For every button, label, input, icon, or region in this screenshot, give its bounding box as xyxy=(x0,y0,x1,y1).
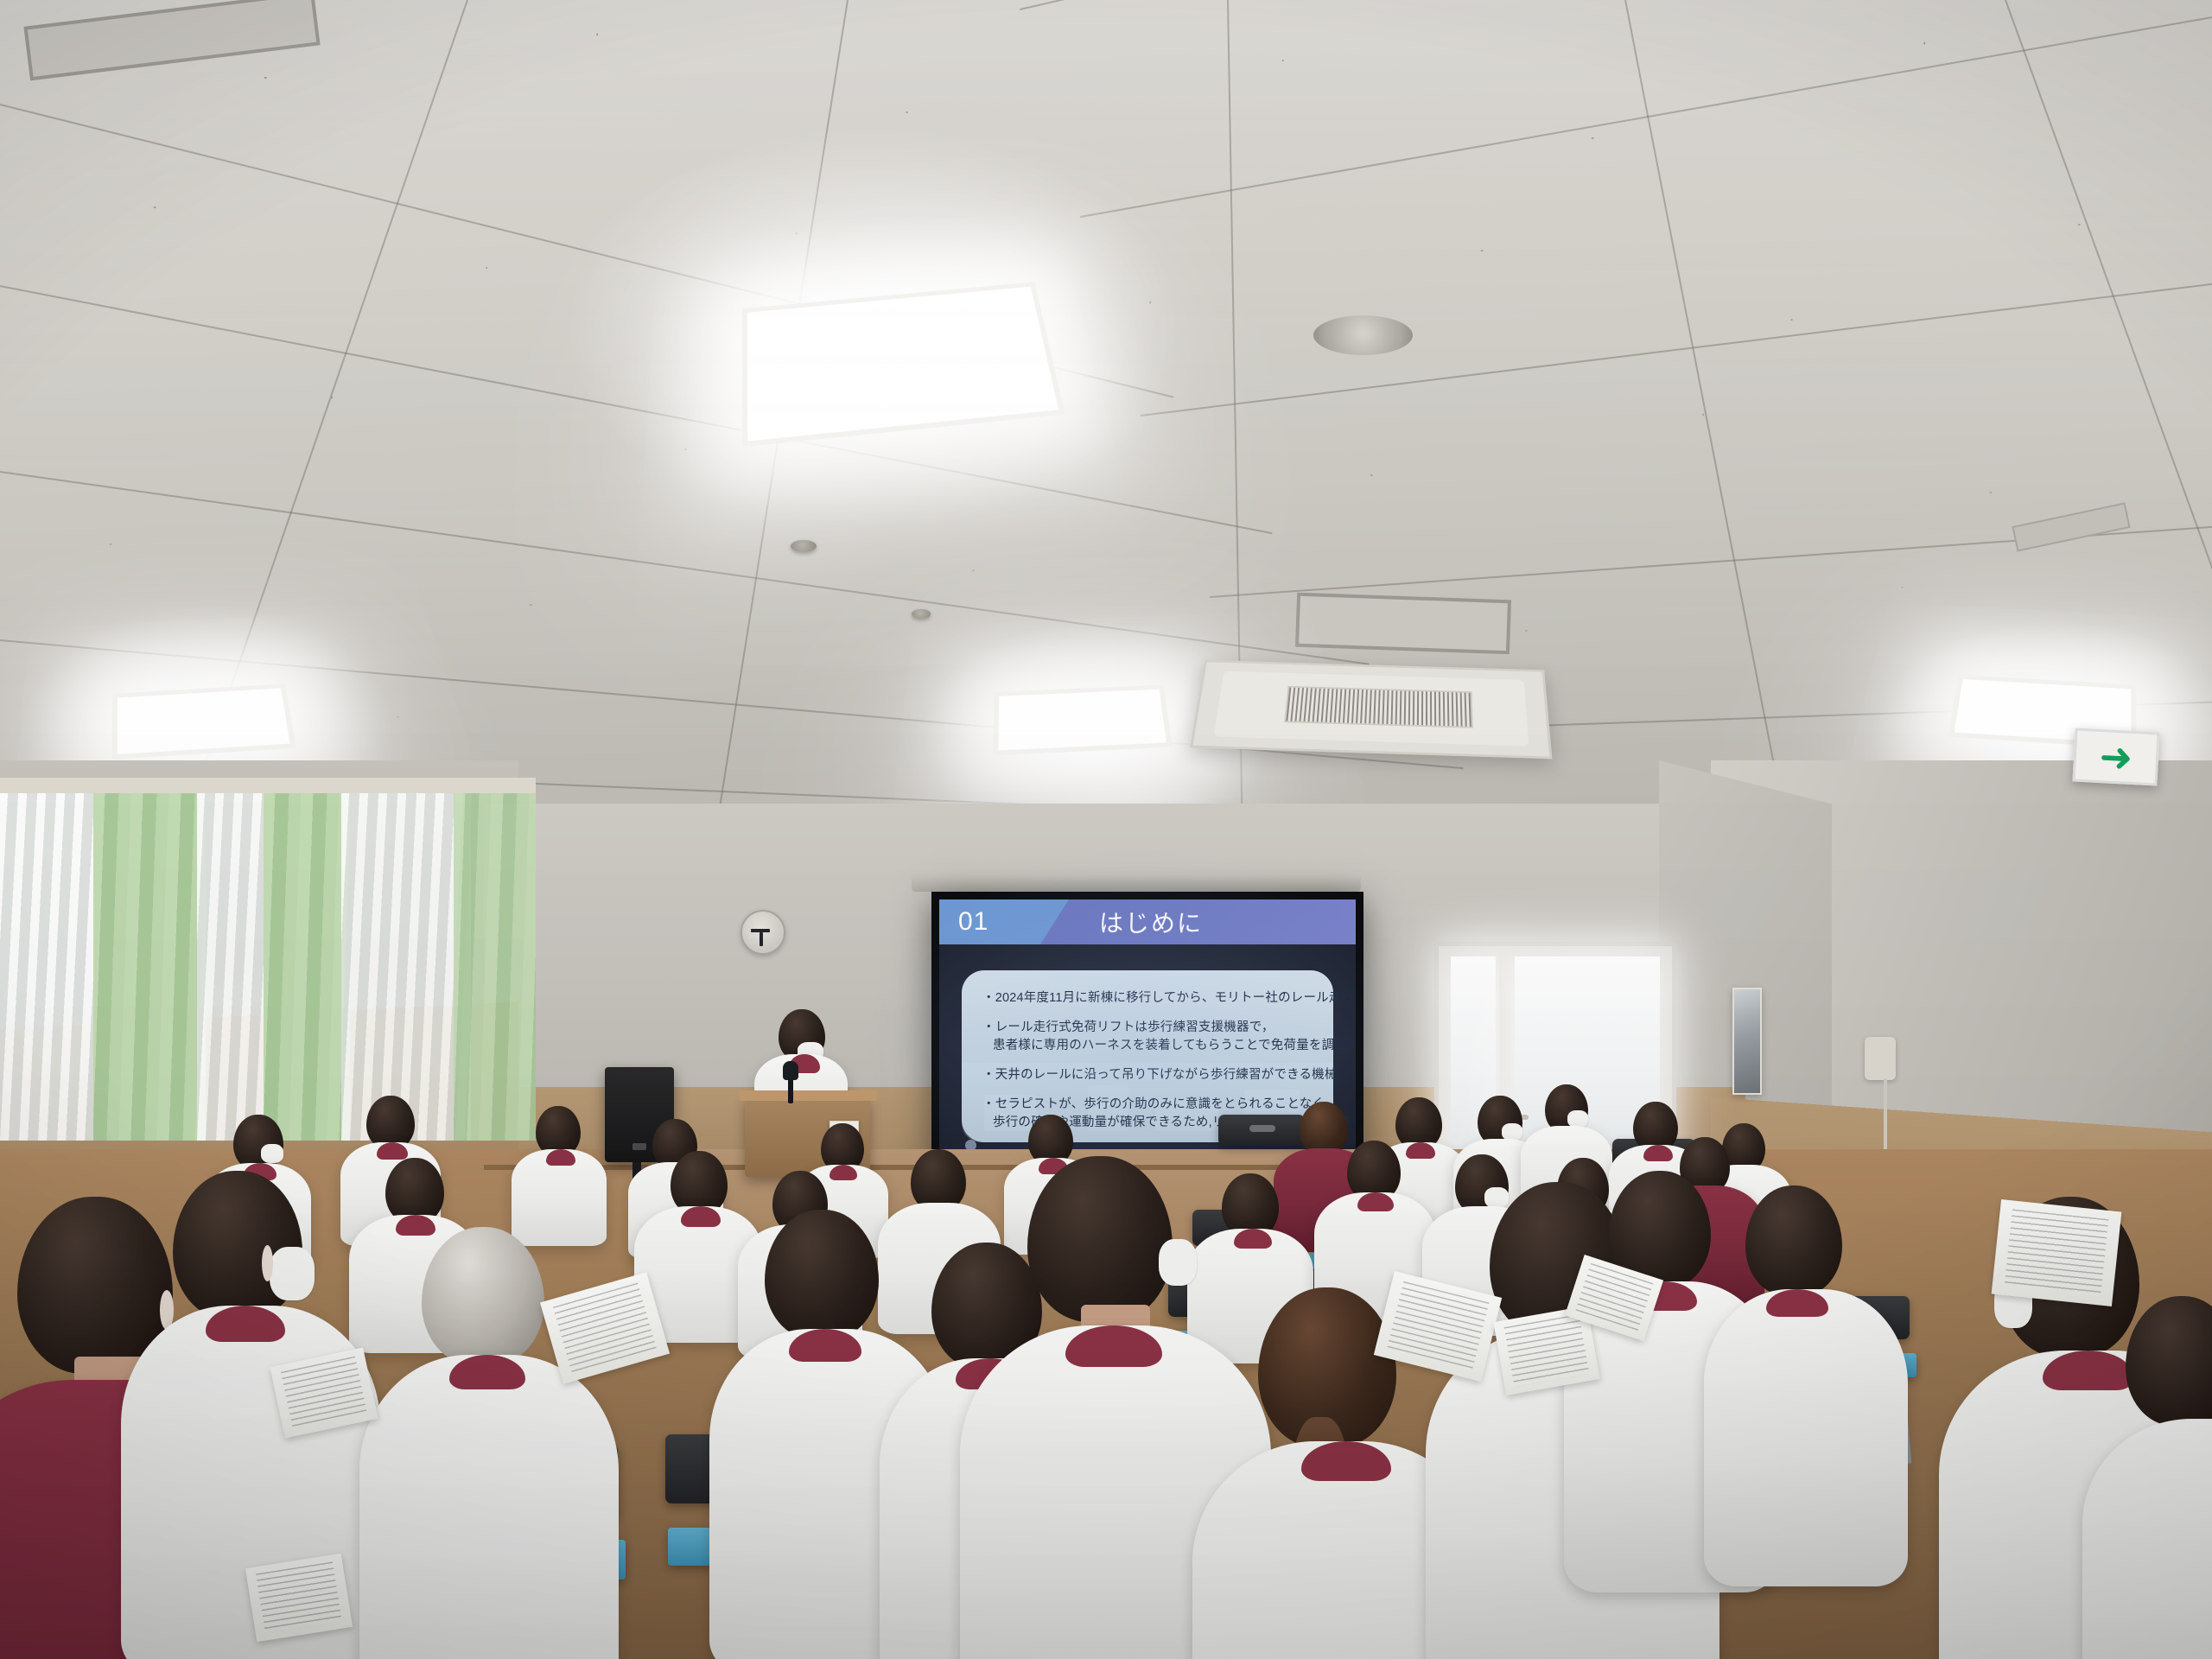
slide-title: はじめに xyxy=(1099,899,1203,944)
slide-bullet-line: ・2024年度11月に新棟に移行してから、モリトー社のレール走行式免荷リフトを導… xyxy=(982,989,1316,1007)
slide-bullet-line: ・天井のレールに沿って吊り下げながら歩行練習ができる機械。 xyxy=(982,1066,1316,1084)
ceiling-light-panel xyxy=(993,684,1173,755)
window-curtains[interactable] xyxy=(0,778,536,1141)
podium-top xyxy=(739,1090,877,1101)
chair-back[interactable] xyxy=(1218,1115,1305,1146)
exit-sign: ➜ xyxy=(2072,728,2159,785)
framed-picture xyxy=(1732,988,1762,1095)
ceiling-vent xyxy=(1295,593,1511,655)
printed-handout[interactable] xyxy=(245,1554,353,1642)
meeting-room-photo: 01 はじめに ・2024年度11月に新棟に移行してから、モリトー社のレール走行… xyxy=(0,0,2212,1659)
slide-section-number: 01 xyxy=(958,907,988,937)
ceiling-light-panel xyxy=(112,683,296,760)
wall-phone[interactable] xyxy=(1865,1037,1896,1080)
printed-handout[interactable] xyxy=(1992,1199,2122,1306)
exit-arrow-icon: ➜ xyxy=(2099,736,2134,778)
ceiling-speaker xyxy=(1313,315,1413,355)
green-curtain xyxy=(454,778,536,1141)
green-curtain xyxy=(93,778,206,1141)
green-curtain xyxy=(264,778,350,1141)
sheer-curtain xyxy=(0,778,104,1141)
curtain-rail xyxy=(0,778,536,793)
ceiling-ac-unit xyxy=(1190,660,1552,760)
slide-bullet-line: ・レール走行式免荷リフトは歩行練習支援機器で， xyxy=(982,1019,1316,1037)
wall-clock xyxy=(741,910,785,955)
sprinkler-head xyxy=(791,540,817,552)
slide-bullet-line: ・セラピストが、歩行の介助のみに意識をとられることなく， xyxy=(982,1096,1316,1114)
slide-number-chip: 01 xyxy=(939,899,1069,944)
slide-header-bar: 01 はじめに xyxy=(939,899,1356,944)
ac-grille xyxy=(1284,686,1473,728)
microphone xyxy=(783,1061,798,1080)
sprinkler-head xyxy=(912,609,931,619)
projector-screen-case xyxy=(912,873,1361,892)
sheer-curtain xyxy=(341,778,471,1141)
slide-bullet-line: 患者様に専用のハーネスを装着してもらうことで免荷量を調整可能。 xyxy=(982,1037,1316,1055)
